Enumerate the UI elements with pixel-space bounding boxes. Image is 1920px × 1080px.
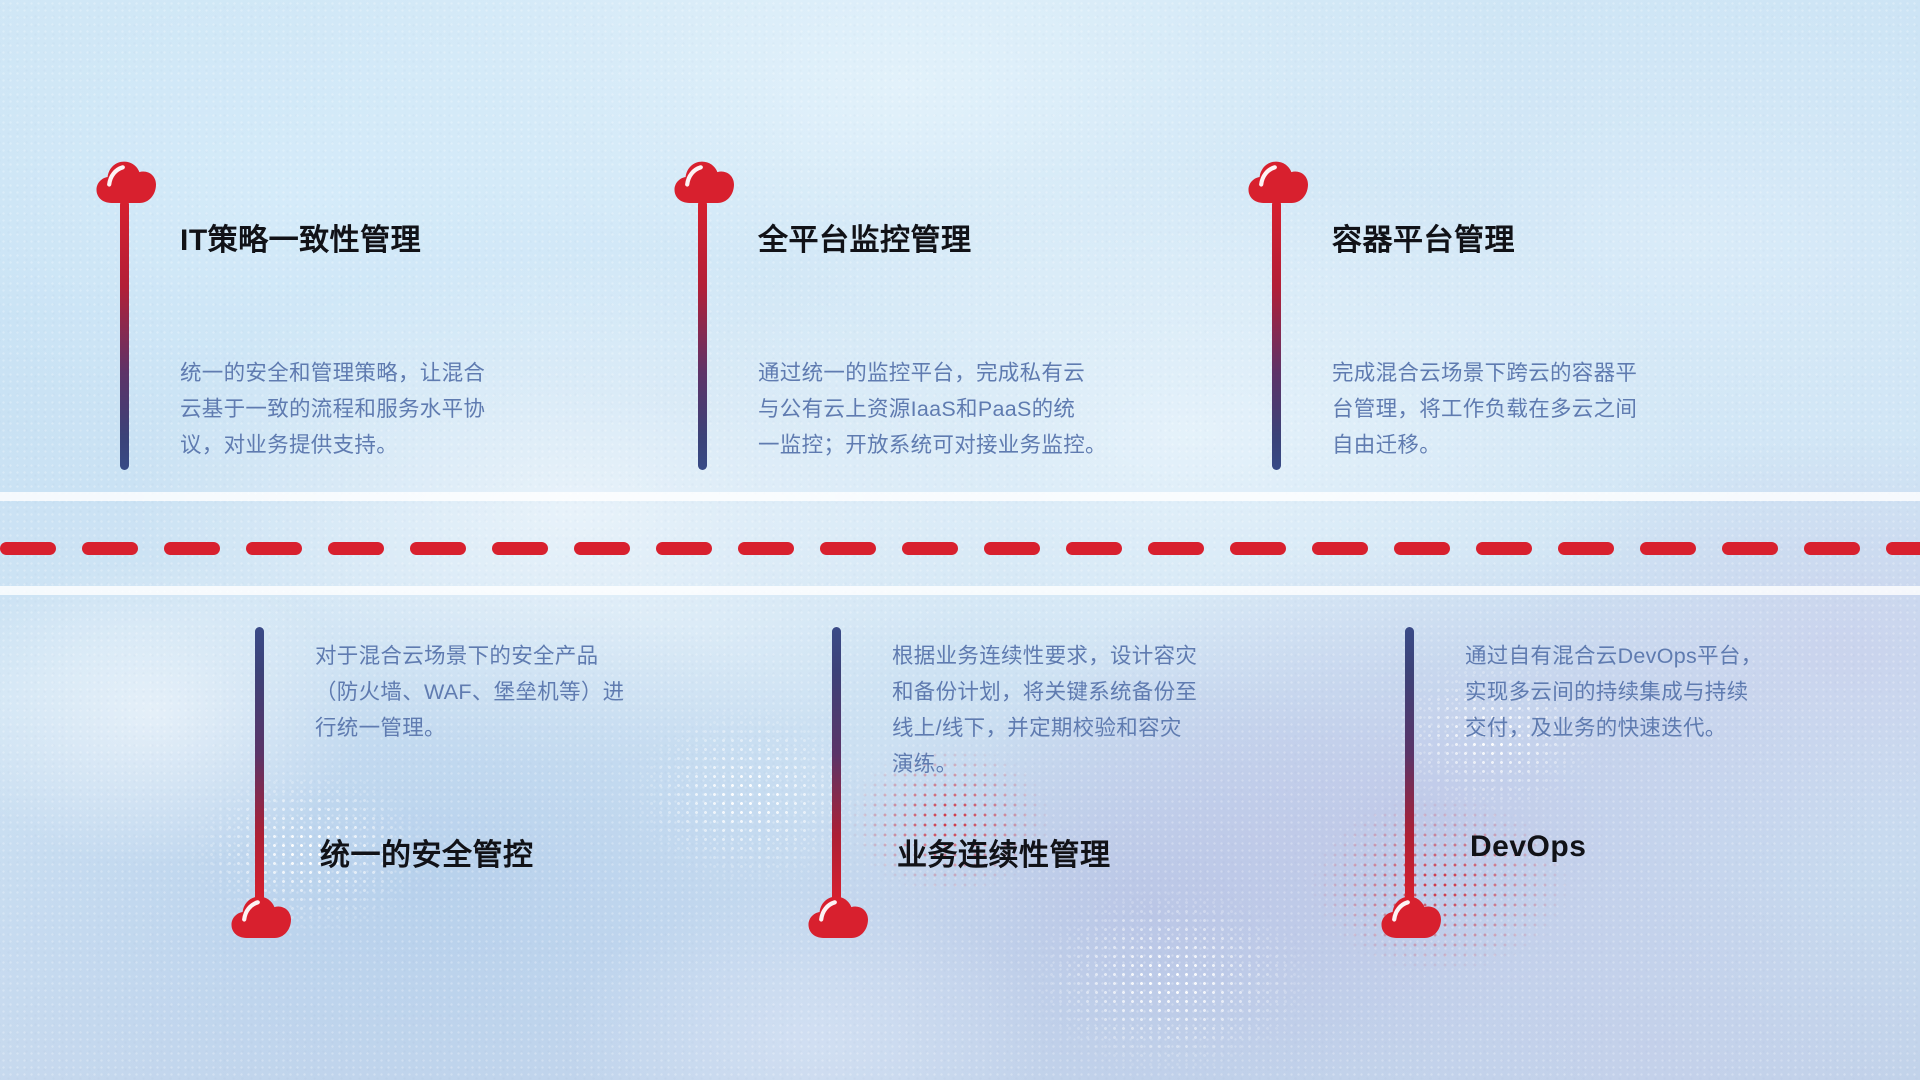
column-body: 对于混合云场景下的安全产品 （防火墙、WAF、堡垒机等）进 行统一管理。 [315, 638, 624, 746]
body-line: 议，对业务提供支持。 [180, 427, 485, 463]
cloud-icon [1380, 895, 1442, 939]
dot-cluster-light-2 [1020, 880, 1320, 1080]
body-line: 根据业务连续性要求，设计容灾 [892, 638, 1197, 674]
column-body: 完成混合云场景下跨云的容器平 台管理，将工作负载在多云之间 自由迁移。 [1332, 355, 1637, 463]
column-stem [1272, 200, 1281, 470]
cloud-icon [673, 160, 735, 204]
divider-dash [738, 542, 794, 555]
column-stem [698, 200, 707, 470]
cloud-icon [95, 160, 157, 204]
divider-band-bottom [0, 586, 1920, 595]
divider-dash [1312, 542, 1368, 555]
body-line: 对于混合云场景下的安全产品 [315, 638, 624, 674]
column-stem [255, 627, 264, 902]
divider-dash [164, 542, 220, 555]
body-line: 通过统一的监控平台，完成私有云 [758, 355, 1107, 391]
divider-dash [1066, 542, 1122, 555]
column-stem [832, 627, 841, 902]
divider-dash [0, 542, 56, 555]
body-line: （防火墙、WAF、堡垒机等）进 [315, 674, 624, 710]
column-title: 业务连续性管理 [897, 830, 1111, 874]
divider-dash [1558, 542, 1614, 555]
divider-dash [1886, 542, 1920, 555]
body-line: 统一的安全和管理策略，让混合 [180, 355, 485, 391]
column-title: DevOps [1470, 830, 1586, 864]
divider-dash [656, 542, 712, 555]
divider-dash [1476, 542, 1532, 555]
body-line: 通过自有混合云DevOps平台， [1465, 638, 1762, 674]
divider-dash [410, 542, 466, 555]
body-line: 线上/线下，并定期校验和容灾 [892, 710, 1197, 746]
body-line: 与公有云上资源IaaS和PaaS的统 [758, 391, 1107, 427]
divider-dash [574, 542, 630, 555]
body-line: 和备份计划，将关键系统备份至 [892, 674, 1197, 710]
divider-dash [328, 542, 384, 555]
dot-cluster-red-2 [1300, 790, 1580, 980]
cloud-icon [1247, 160, 1309, 204]
column-title: 容器平台管理 [1332, 215, 1515, 259]
column-title: IT策略一致性管理 [180, 215, 421, 259]
divider-dash [902, 542, 958, 555]
divider-dash [492, 542, 548, 555]
divider-dash [1804, 542, 1860, 555]
column-title: 全平台监控管理 [758, 215, 972, 259]
body-line: 自由迁移。 [1332, 427, 1637, 463]
dot-cluster-light-1 [620, 700, 880, 890]
divider-dash [1394, 542, 1450, 555]
divider-band-top [0, 492, 1920, 501]
cloud-icon [230, 895, 292, 939]
column-body: 根据业务连续性要求，设计容灾 和备份计划，将关键系统备份至 线上/线下，并定期校… [892, 638, 1197, 782]
column-title: 统一的安全管控 [320, 830, 534, 874]
body-line: 云基于一致的流程和服务水平协 [180, 391, 485, 427]
column-body: 通过自有混合云DevOps平台， 实现多云间的持续集成与持续 交付，及业务的快速… [1465, 638, 1762, 746]
divider-dash [82, 542, 138, 555]
divider-dash [1640, 542, 1696, 555]
divider-dash [1722, 542, 1778, 555]
cloud-icon [807, 895, 869, 939]
divider-dash [1148, 542, 1204, 555]
body-line: 交付，及业务的快速迭代。 [1465, 710, 1762, 746]
body-line: 实现多云间的持续集成与持续 [1465, 674, 1762, 710]
divider-dash [246, 542, 302, 555]
column-body: 统一的安全和管理策略，让混合 云基于一致的流程和服务水平协 议，对业务提供支持。 [180, 355, 485, 463]
divider-dash [1230, 542, 1286, 555]
body-line: 演练。 [892, 746, 1197, 782]
body-line: 台管理，将工作负载在多云之间 [1332, 391, 1637, 427]
body-line: 行统一管理。 [315, 710, 624, 746]
column-body: 通过统一的监控平台，完成私有云 与公有云上资源IaaS和PaaS的统 一监控；开… [758, 355, 1107, 463]
divider-dash [820, 542, 876, 555]
divider-dash [984, 542, 1040, 555]
divider-dashed-red-line [0, 542, 1920, 555]
column-stem [120, 200, 129, 470]
body-line: 一监控；开放系统可对接业务监控。 [758, 427, 1107, 463]
body-line: 完成混合云场景下跨云的容器平 [1332, 355, 1637, 391]
column-stem [1405, 627, 1414, 902]
